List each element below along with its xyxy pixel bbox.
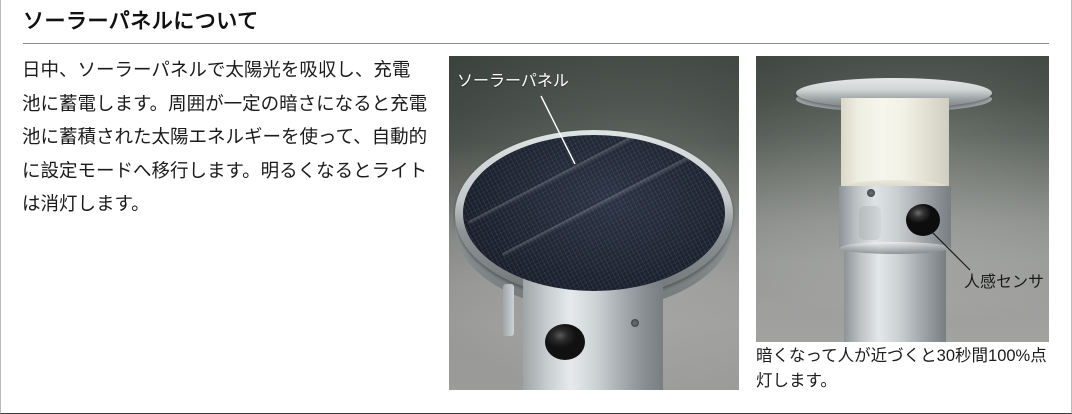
figure-human-sensor-caption: 暗くなって人が近づくと30秒間100%点灯します。 (756, 344, 1056, 394)
figure-human-sensor-photo: 人感センサ (756, 56, 1049, 342)
callout-label-human-sensor: 人感センサ (964, 273, 1044, 293)
bollard-access-plate (859, 206, 881, 240)
motion-sensor-dome-icon (545, 324, 585, 360)
human-sensor-dome-icon (906, 204, 940, 236)
bollard-side-tab (503, 284, 514, 336)
light-diffuser (841, 98, 949, 188)
callout-label-solar-panel: ソーラーパネル (457, 72, 569, 92)
title-divider (23, 43, 1049, 44)
screw-icon (631, 319, 639, 327)
section-body-text: 日中、ソーラーパネルで太陽光を吸収し、充電池に蓄電します。周囲が一定の暗さになる… (22, 53, 428, 221)
solar-panel-surface (463, 135, 725, 291)
solar-panel-info-panel: ソーラーパネルについて 日中、ソーラーパネルで太陽光を吸収し、充電池に蓄電します… (0, 0, 1072, 414)
screw-icon (867, 189, 875, 197)
page-title: ソーラーパネルについて (23, 8, 259, 36)
bollard-seam (840, 242, 950, 254)
bollard-body (523, 274, 663, 390)
bollard-post (844, 246, 946, 342)
figure-solar-panel-photo: ソーラーパネル (449, 56, 739, 390)
